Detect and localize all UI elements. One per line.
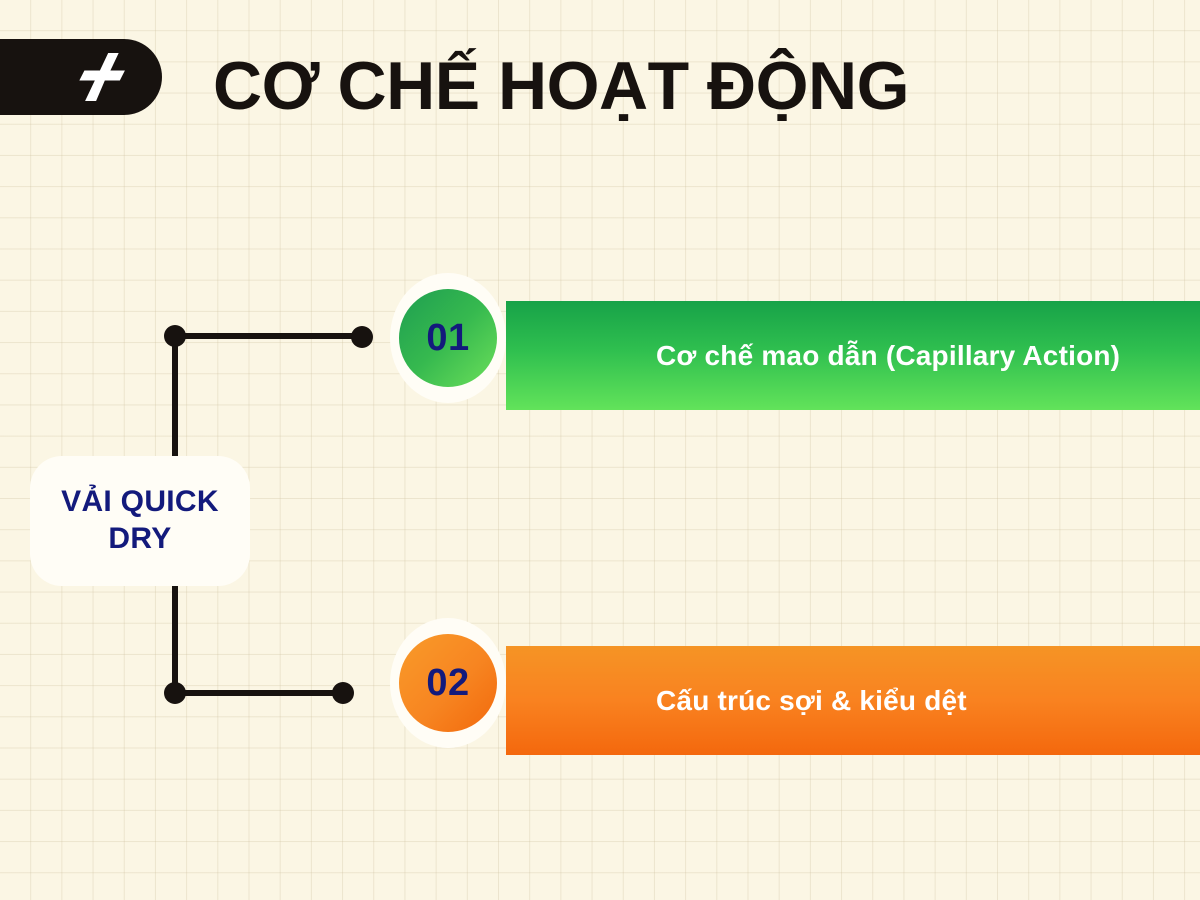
step-bar-01: Cơ chế mao dẫn (Capillary Action) xyxy=(506,301,1200,410)
source-node-label: VẢI QUICK DRY xyxy=(61,484,219,557)
step-label-01: Cơ chế mao dẫn (Capillary Action) xyxy=(656,340,1120,372)
source-node-vai-quick-dry: VẢI QUICK DRY xyxy=(30,456,250,586)
connector-node-top-left xyxy=(164,325,186,347)
step-circle-01: 01 xyxy=(399,289,497,387)
step-circle-02: 02 xyxy=(399,634,497,732)
step-label-02: Cấu trúc sợi & kiểu dệt xyxy=(656,685,967,717)
source-node-label-line2: DRY xyxy=(108,522,171,555)
connector-node-bottom-left xyxy=(164,682,186,704)
connector-lines xyxy=(0,0,1200,900)
step-bar-02: Cấu trúc sợi & kiểu dệt xyxy=(506,646,1200,755)
step-number-01: 01 xyxy=(426,317,469,360)
infographic-canvas: CƠ CHẾ HOẠT ĐỘNG VẢI QUICK DRY Cơ chế ma… xyxy=(0,0,1200,900)
slanted-cross-logo-icon xyxy=(75,51,127,103)
step-circle-ring-01: 01 xyxy=(390,273,506,403)
connector-node-top-right xyxy=(351,326,373,348)
step-number-02: 02 xyxy=(426,662,469,705)
step-circle-ring-02: 02 xyxy=(390,618,506,748)
page-title: CƠ CHẾ HOẠT ĐỘNG xyxy=(213,52,909,120)
source-node-label-line1: VẢI QUICK xyxy=(61,485,219,518)
connector-node-bottom-right xyxy=(332,682,354,704)
brand-logo-badge xyxy=(0,39,162,115)
